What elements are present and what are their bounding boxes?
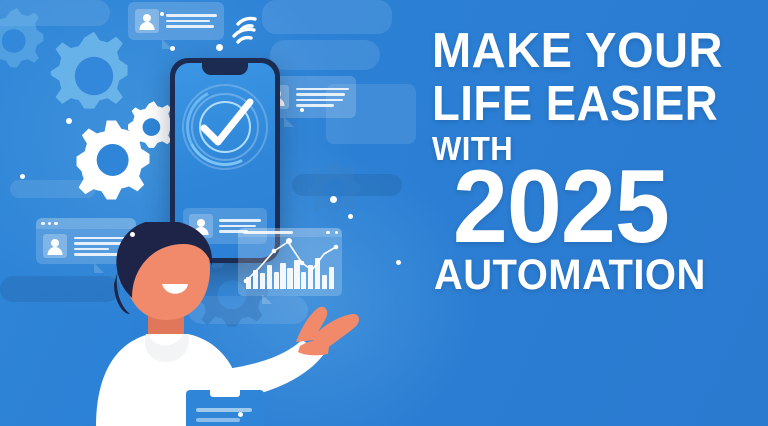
bubble-text-lines — [166, 14, 217, 28]
clipboard-icon — [186, 384, 264, 426]
wifi-signal-icon — [232, 8, 276, 50]
decor-dot — [396, 260, 401, 265]
decor-dot — [300, 108, 304, 112]
headline-line-1: MAKE YOUR — [432, 28, 737, 75]
gear-corner-faint-icon — [0, 4, 50, 70]
user-avatar-icon — [43, 234, 67, 258]
decor-dot — [160, 12, 164, 16]
decor-dot — [130, 232, 135, 237]
decor-dot — [286, 238, 292, 244]
decor-dot — [170, 46, 175, 51]
gear-right-faint-icon — [308, 158, 366, 216]
decor-dot — [238, 412, 243, 417]
user-avatar-icon — [135, 9, 159, 33]
bg-panel-c — [270, 40, 380, 70]
headline-block: MAKE YOUR LIFE EASIER WITH 2025 AUTOMATI… — [432, 28, 750, 296]
headline-line-5: AUTOMATION — [432, 255, 728, 296]
headline-line-2: LIFE EASIER — [432, 81, 728, 128]
bubble-tail — [284, 117, 294, 127]
automation-banner: MAKE YOUR LIFE EASIER WITH 2025 AUTOMATI… — [0, 0, 768, 426]
decor-dot — [66, 118, 72, 124]
decor-dot — [20, 174, 25, 179]
person-illustration — [88, 222, 388, 426]
chat-bubble-top — [128, 2, 224, 40]
checkmark-icon — [194, 96, 256, 158]
decor-dot — [348, 214, 353, 219]
phone-notch — [202, 63, 248, 75]
headline-year: 2025 — [432, 158, 734, 257]
bubble-text-lines — [296, 88, 349, 107]
decor-dot — [216, 44, 223, 51]
bg-panel-b — [262, 0, 392, 34]
decor-dot — [330, 196, 337, 203]
